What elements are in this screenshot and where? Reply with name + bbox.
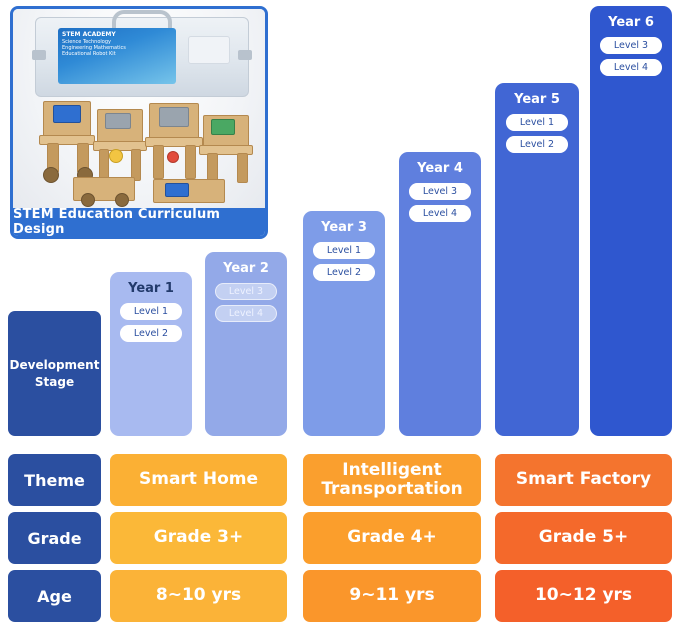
kit-model: [167, 151, 179, 163]
theme-cell-2: Intelligent Transportation: [303, 454, 481, 506]
year-bar-1: Year 1 Level 1 Level 2: [110, 272, 192, 436]
year-bar-2-title: Year 2: [223, 261, 269, 276]
grade-cell-2: Grade 4+: [303, 512, 481, 564]
year-bar-5: Year 5 Level 1 Level 2: [495, 83, 579, 436]
year-bar-4-level-1: Level 3: [409, 183, 471, 200]
year-bar-5-title: Year 5: [514, 92, 560, 107]
product-caption: STEM Education Curriculum Design: [13, 208, 265, 236]
kit-model: [165, 183, 189, 197]
kit-model: [153, 145, 164, 179]
product-photo: STEM ACADEMY Science Technology Engineer…: [13, 9, 265, 214]
kit-model: [81, 193, 95, 207]
year-bar-6-level-2: Level 4: [600, 59, 662, 76]
case-label-line3: Educational Robot Kit: [62, 51, 116, 57]
year-bar-4-title: Year 4: [417, 161, 463, 176]
year-bar-1-title: Year 1: [128, 281, 174, 296]
kit-model: [109, 149, 123, 163]
year-bar-5-level-2: Level 2: [506, 136, 568, 153]
row-label-age: Age: [8, 570, 101, 622]
case-label-line1: Science Technology: [62, 39, 111, 45]
year-bar-3-level-1: Level 1: [313, 242, 375, 259]
kit-model: [105, 113, 131, 129]
storage-case: STEM ACADEMY Science Technology Engineer…: [35, 17, 249, 97]
age-cell-3: 10~12 yrs: [495, 570, 672, 622]
case-clip-left-icon: [32, 50, 46, 60]
theme-cell-3: Smart Factory: [495, 454, 672, 506]
kit-model: [53, 105, 81, 123]
case-label: STEM ACADEMY Science Technology Engineer…: [58, 28, 176, 84]
case-label-line2: Engineering Mathematics: [62, 45, 126, 51]
kit-model: [43, 167, 59, 183]
kit-model: [153, 179, 225, 203]
year-bar-5-level-1: Level 1: [506, 114, 568, 131]
product-image-card: STEM ACADEMY Science Technology Engineer…: [10, 6, 268, 239]
case-handle-icon: [112, 10, 172, 30]
case-sticker: [188, 36, 230, 64]
year-bar-3: Year 3 Level 1 Level 2: [303, 211, 385, 436]
kit-model: [185, 145, 196, 179]
year-bar-6-level-1: Level 3: [600, 37, 662, 54]
case-clip-right-icon: [238, 50, 252, 60]
infographic-root: STEM ACADEMY Science Technology Engineer…: [0, 0, 679, 627]
year-bar-1-level-1: Level 1: [120, 303, 182, 320]
year-bar-3-level-2: Level 2: [313, 264, 375, 281]
kit-model: [159, 107, 189, 127]
case-label-title: STEM ACADEMY: [62, 31, 172, 39]
year-bar-6: Year 6 Level 3 Level 4: [590, 6, 672, 436]
age-cell-1: 8~10 yrs: [110, 570, 287, 622]
year-bar-4-level-2: Level 4: [409, 205, 471, 222]
kit-model: [237, 153, 248, 183]
kit-model: [115, 193, 129, 207]
age-cell-2: 9~11 yrs: [303, 570, 481, 622]
row-label-grade: Grade: [8, 512, 101, 564]
theme-cell-1: Smart Home: [110, 454, 287, 506]
grade-cell-1: Grade 3+: [110, 512, 287, 564]
year-bar-2: Year 2 Level 3 Level 4: [205, 252, 287, 436]
row-label-theme: Theme: [8, 454, 101, 506]
year-bar-1-level-2: Level 2: [120, 325, 182, 342]
year-bar-2-level-1: Level 3: [215, 283, 277, 300]
grade-cell-3: Grade 5+: [495, 512, 672, 564]
development-stage-label: Development Stage: [10, 357, 100, 389]
year-bar-2-level-2: Level 4: [215, 305, 277, 322]
year-bar-4: Year 4 Level 3 Level 4: [399, 152, 481, 436]
kit-model: [211, 119, 235, 135]
year-bar-6-title: Year 6: [608, 15, 654, 30]
year-bar-3-title: Year 3: [321, 220, 367, 235]
development-stage-block: Development Stage: [8, 311, 101, 436]
